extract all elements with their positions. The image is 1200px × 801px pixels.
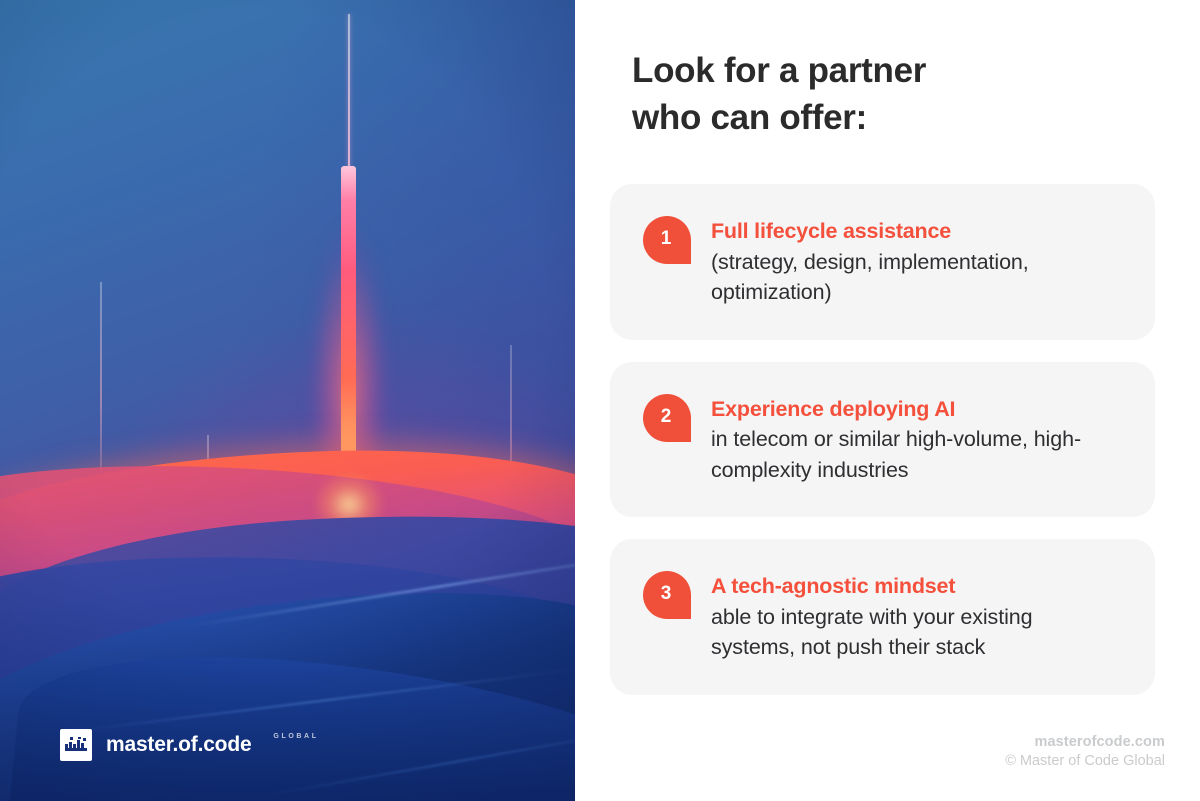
logo-mark-icon bbox=[60, 729, 92, 761]
list-item-content: Experience deploying AI in telecom or si… bbox=[711, 392, 1121, 486]
list-item-body: in telecom or similar high-volume, high-… bbox=[711, 424, 1121, 485]
badge-number: 2 bbox=[643, 394, 691, 442]
footer-meta: masterofcode.com © Master of Code Global bbox=[1005, 734, 1165, 769]
list-item-title: Full lifecycle assistance bbox=[711, 216, 1121, 247]
page-title-line-1: Look for a partner bbox=[632, 48, 1152, 95]
list-item-title: Experience deploying AI bbox=[711, 394, 1121, 425]
list-item: 3 A tech-agnostic mindset able to integr… bbox=[610, 539, 1155, 695]
list-item-body: able to integrate with your existing sys… bbox=[711, 602, 1121, 663]
footer-website[interactable]: masterofcode.com bbox=[1005, 734, 1165, 750]
list-item-title: A tech-agnostic mindset bbox=[711, 571, 1121, 602]
content-panel: Look for a partner who can offer: 1 Full… bbox=[575, 0, 1200, 801]
list-item-content: Full lifecycle assistance (strategy, des… bbox=[711, 214, 1121, 308]
page-title-line-2: who can offer: bbox=[632, 95, 1152, 142]
criteria-list: 1 Full lifecycle assistance (strategy, d… bbox=[610, 184, 1155, 695]
brand-logo: master.of.code GLOBAL bbox=[60, 729, 319, 761]
list-item-body: (strategy, design, implementation, optim… bbox=[711, 247, 1121, 308]
visual-panel: master.of.code GLOBAL bbox=[0, 0, 575, 801]
list-item: 1 Full lifecycle assistance (strategy, d… bbox=[610, 184, 1155, 340]
logo-global-label: GLOBAL bbox=[273, 733, 318, 740]
poster-canvas: master.of.code GLOBAL Look for a partner… bbox=[0, 0, 1200, 801]
tower-antenna bbox=[348, 14, 350, 169]
badge-number: 3 bbox=[643, 571, 691, 619]
list-item: 2 Experience deploying AI in telecom or … bbox=[610, 362, 1155, 518]
list-item-content: A tech-agnostic mindset able to integrat… bbox=[711, 569, 1121, 663]
badge-number: 1 bbox=[643, 216, 691, 264]
footer-copyright: © Master of Code Global bbox=[1005, 753, 1165, 769]
logo-wordmark: master.of.code bbox=[106, 733, 251, 757]
page-title: Look for a partner who can offer: bbox=[632, 48, 1152, 141]
